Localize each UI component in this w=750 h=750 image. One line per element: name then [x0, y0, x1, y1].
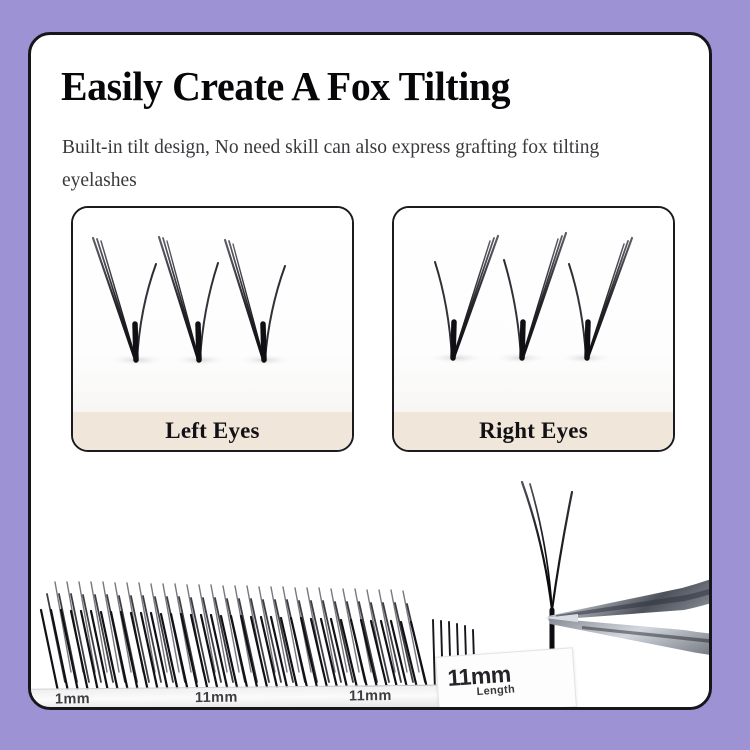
page-title: Easily Create A Fox Tilting	[61, 63, 666, 109]
right-eyes-image	[394, 208, 673, 416]
product-poster: Easily Create A Fox Tilting Built-in til…	[0, 0, 750, 750]
ruler-mark-0: 1mm	[55, 691, 90, 707]
left-eyes-image	[73, 208, 352, 416]
page-subtitle: Built-in tilt design, No need skill can …	[62, 131, 672, 197]
panel-caption-left-eyes: Left Eyes	[73, 412, 352, 450]
content-card: Easily Create A Fox Tilting Built-in til…	[28, 32, 712, 710]
comparison-panels: Left Eyes	[71, 206, 675, 454]
ruler-mark-2: 11mm	[349, 688, 392, 704]
left-tilting-lash-fans-illustration	[73, 208, 352, 416]
panel-right-eyes: Right Eyes	[392, 206, 675, 452]
right-tilting-lash-fans-illustration	[394, 208, 673, 416]
panel-left-eyes: Left Eyes	[71, 206, 354, 452]
product-photo: 1mm 11mm 11mm 11mm Length	[31, 460, 709, 707]
panel-caption-right-eyes: Right Eyes	[394, 412, 673, 450]
lash-tray-image	[31, 460, 501, 707]
length-callout-tag: 11mm Length	[435, 647, 577, 707]
length-unit-label: Length	[476, 683, 515, 698]
ruler-mark-1: 11mm	[195, 690, 238, 706]
